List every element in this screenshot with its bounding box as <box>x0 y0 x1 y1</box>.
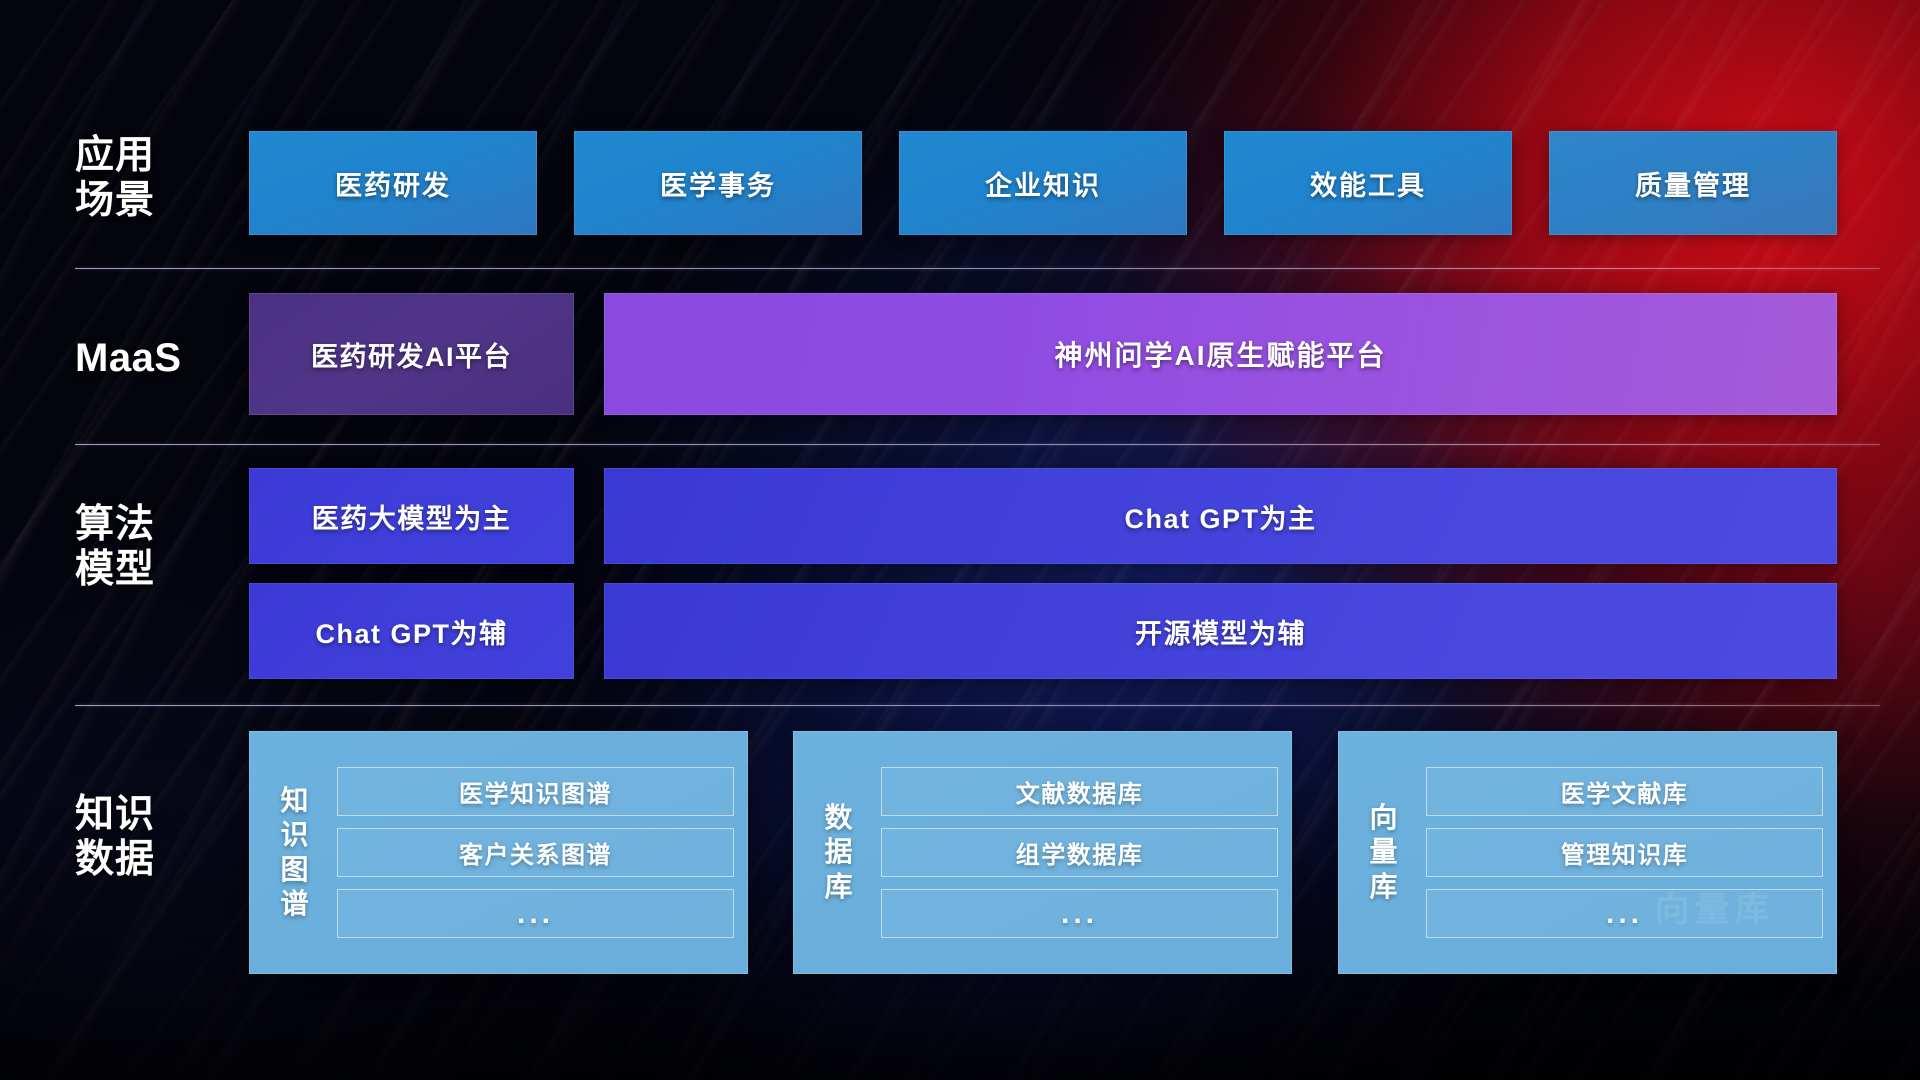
algorithm-tile-pharma-llm-primary[interactable]: 医药大模型为主 <box>249 468 574 564</box>
knowledge-item[interactable]: 组学数据库 <box>881 828 1278 877</box>
knowledge-card-knowledge-graph[interactable]: 知 识 图 谱 医学知识图谱 客户关系图谱 ... <box>249 731 748 974</box>
row-separator-1 <box>75 268 1880 269</box>
row-label-line: 知识 <box>75 792 230 837</box>
row-label-maas: MaaS <box>75 335 230 381</box>
knowledge-card-title-line: 据 <box>811 835 867 869</box>
algorithm-tile-opensource-secondary[interactable]: 开源模型为辅 <box>604 583 1837 679</box>
scenario-label: 医药研发 <box>335 164 451 203</box>
scenario-tile-pharma-rnd[interactable]: 医药研发 <box>249 131 537 235</box>
row-label-line: 应用 <box>75 133 230 178</box>
row-label-knowledge: 知识 数据 <box>75 792 230 882</box>
knowledge-item[interactable]: 文献数据库 <box>881 767 1278 816</box>
knowledge-card-title: 向 量 库 <box>1356 801 1412 903</box>
knowledge-card-title-line: 库 <box>1356 870 1412 904</box>
row-label-line: MaaS <box>75 335 230 381</box>
knowledge-item-more[interactable]: ... <box>1426 889 1823 938</box>
knowledge-card-title-line: 识 <box>267 818 323 852</box>
row-label-line: 算法 <box>75 502 230 547</box>
knowledge-item-more[interactable]: ... <box>337 889 734 938</box>
row-label-algorithm: 算法 模型 <box>75 502 230 592</box>
knowledge-item[interactable]: 医学文献库 <box>1426 767 1823 816</box>
knowledge-card-item-list: 医学文献库 管理知识库 ... <box>1426 767 1823 938</box>
maas-label: 医药研发AI平台 <box>311 335 512 374</box>
knowledge-item[interactable]: 客户关系图谱 <box>337 828 734 877</box>
row-label-application: 应用 场景 <box>75 133 230 223</box>
scenario-tile-quality-management[interactable]: 质量管理 <box>1549 131 1837 235</box>
scenario-tile-medical-affairs[interactable]: 医学事务 <box>574 131 862 235</box>
knowledge-card-title-line: 量 <box>1356 835 1412 869</box>
algorithm-label: Chat GPT为辅 <box>315 612 507 651</box>
knowledge-card-database[interactable]: 数 据 库 文献数据库 组学数据库 ... <box>793 731 1292 974</box>
algorithm-tile-chatgpt-secondary[interactable]: Chat GPT为辅 <box>249 583 574 679</box>
knowledge-card-title-line: 知 <box>267 784 323 818</box>
knowledge-card-title-line: 向 <box>1356 801 1412 835</box>
scenario-label: 医学事务 <box>660 164 776 203</box>
knowledge-card-title-line: 库 <box>811 870 867 904</box>
maas-tile-shenzhou-wenxue-platform[interactable]: 神州问学AI原生赋能平台 <box>604 293 1837 415</box>
scenario-tile-enterprise-knowledge[interactable]: 企业知识 <box>899 131 1187 235</box>
knowledge-item[interactable]: 管理知识库 <box>1426 828 1823 877</box>
knowledge-card-item-list: 文献数据库 组学数据库 ... <box>881 767 1278 938</box>
row-label-line: 场景 <box>75 178 230 223</box>
scenario-tile-efficiency-tools[interactable]: 效能工具 <box>1224 131 1512 235</box>
algorithm-label: 开源模型为辅 <box>1135 612 1306 651</box>
knowledge-card-title: 数 据 库 <box>811 801 867 903</box>
row-separator-2 <box>75 444 1880 445</box>
knowledge-card-title-line: 谱 <box>267 887 323 921</box>
knowledge-card-title-line: 数 <box>811 801 867 835</box>
row-separator-3 <box>75 705 1880 706</box>
algorithm-tile-chatgpt-primary[interactable]: Chat GPT为主 <box>604 468 1837 564</box>
row-label-line: 数据 <box>75 837 230 882</box>
scenario-label: 效能工具 <box>1310 164 1426 203</box>
knowledge-card-item-list: 医学知识图谱 客户关系图谱 ... <box>337 767 734 938</box>
scenario-label: 质量管理 <box>1635 164 1751 203</box>
row-label-line: 模型 <box>75 547 230 592</box>
maas-tile-pharma-ai-platform[interactable]: 医药研发AI平台 <box>249 293 574 415</box>
knowledge-item[interactable]: 医学知识图谱 <box>337 767 734 816</box>
algorithm-label: 医药大模型为主 <box>312 497 512 536</box>
algorithm-label: Chat GPT为主 <box>1124 497 1316 536</box>
knowledge-card-title: 知 识 图 谱 <box>267 784 323 921</box>
maas-label: 神州问学AI原生赋能平台 <box>1054 334 1386 374</box>
knowledge-card-vector-store[interactable]: 向 量 库 医学文献库 管理知识库 ... <box>1338 731 1837 974</box>
knowledge-item-more[interactable]: ... <box>881 889 1278 938</box>
knowledge-card-title-line: 图 <box>267 853 323 887</box>
scenario-label: 企业知识 <box>985 164 1101 203</box>
diagram-canvas: 应用 场景 MaaS 算法 模型 知识 数据 医药研发 医学事务 企业知识 效能… <box>0 0 1920 1080</box>
